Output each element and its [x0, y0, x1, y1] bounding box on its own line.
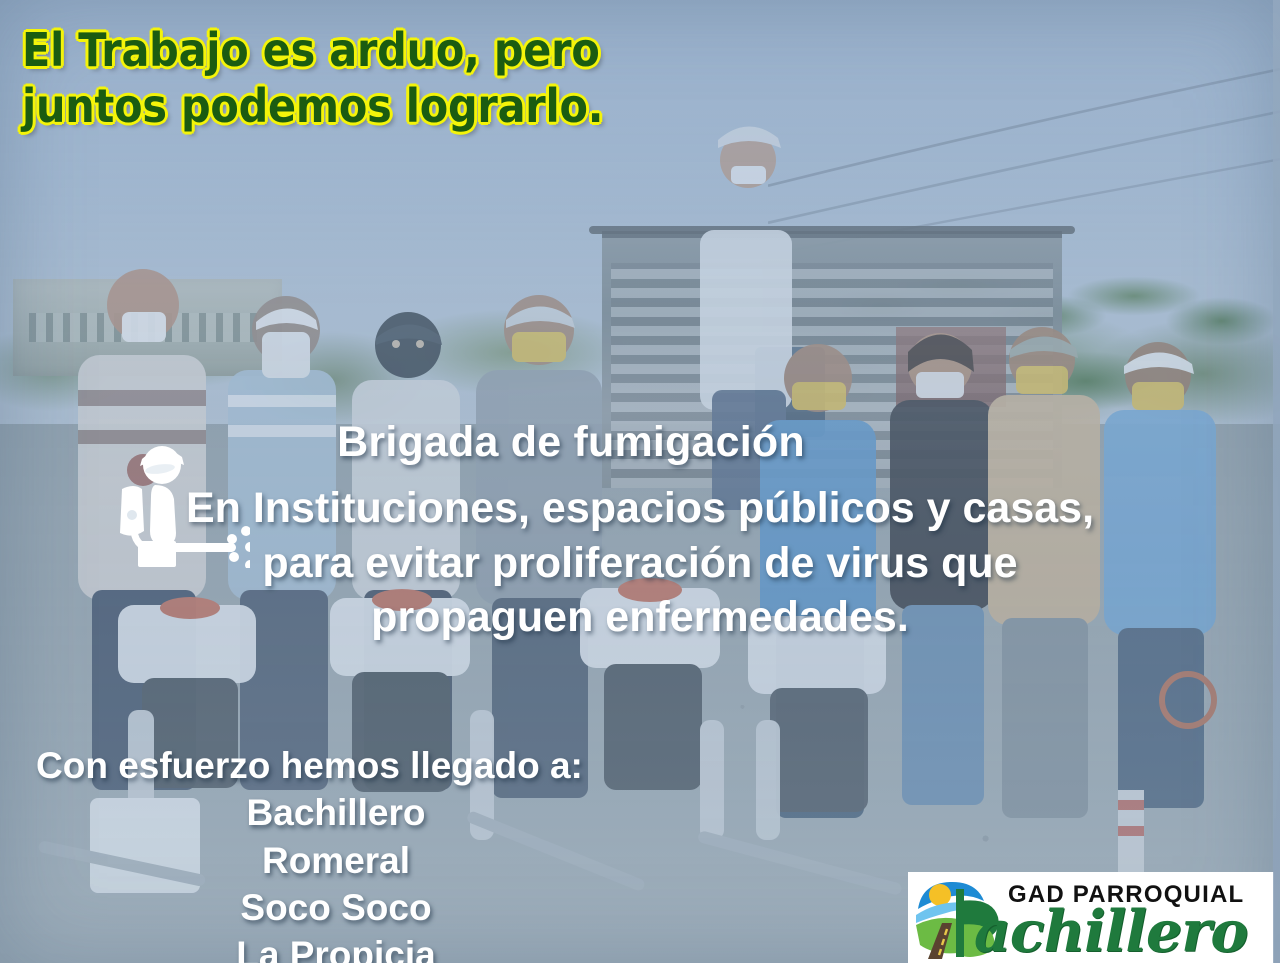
headline-line-2: juntos podemos lograrlo. — [22, 78, 722, 134]
main-body-line-3: propaguen enfermedades. — [40, 590, 1240, 645]
reach-heading: Con esfuerzo hemos llegado a: — [36, 742, 636, 789]
list-item: La Propicia — [36, 931, 636, 963]
logo-wordmark: GAD PARROQUIAL achillero — [1016, 872, 1274, 963]
right-edge-strip — [1273, 0, 1280, 963]
main-message-block: Brigada de fumigación En Instituciones, … — [0, 418, 1280, 645]
reach-place-list: Bachillero Romeral Soco Soco La Propicia — [36, 789, 636, 963]
list-item: Soco Soco — [36, 884, 636, 931]
headline: El Trabajo es arduo, pero juntos podemos… — [22, 22, 722, 134]
gad-parroquial-bachillero-logo: GAD PARROQUIAL achillero — [908, 872, 1274, 963]
main-body-line-2: para evitar proliferación de virus que — [40, 536, 1240, 591]
poster-canvas: El Trabajo es arduo, pero juntos podemos… — [0, 0, 1280, 963]
list-item: Romeral — [36, 837, 636, 884]
logo-script-text: achillero — [974, 898, 1247, 963]
main-title: Brigada de fumigación — [0, 418, 1280, 467]
headline-line-1: El Trabajo es arduo, pero — [22, 22, 722, 78]
list-item: Bachillero — [36, 789, 636, 836]
main-body: En Instituciones, espacios públicos y ca… — [0, 481, 1280, 645]
main-body-line-1: En Instituciones, espacios públicos y ca… — [40, 481, 1240, 536]
reach-block: Con esfuerzo hemos llegado a: Bachillero… — [36, 742, 636, 963]
